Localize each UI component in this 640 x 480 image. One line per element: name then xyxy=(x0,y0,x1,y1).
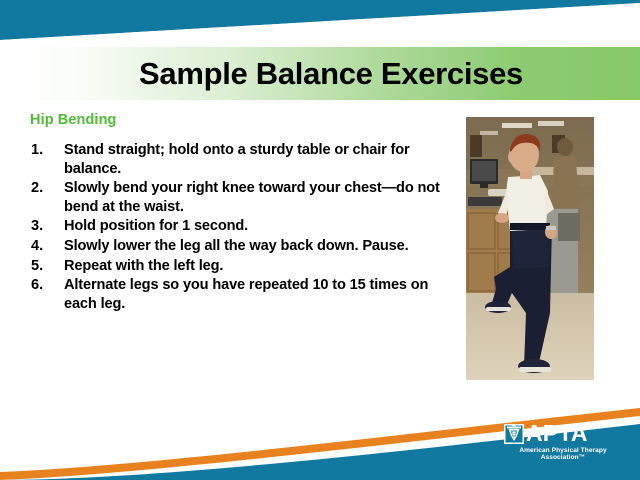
section-subtitle: Hip Bending xyxy=(30,112,116,128)
slide: Sample Balance Exercises Hip Bending 1. … xyxy=(0,0,640,480)
list-item-text: Stand straight; hold onto a sturdy table… xyxy=(64,141,448,178)
list-item-number: 5. xyxy=(28,257,64,276)
list-item-number: 2. xyxy=(28,179,64,198)
list-item-number: 3. xyxy=(28,217,64,236)
exercise-photo-image xyxy=(466,117,594,380)
apta-logo-row: APTA xyxy=(503,421,623,446)
list-item: 6. Alternate legs so you have repeated 1… xyxy=(28,276,448,313)
list-item: 1. Stand straight; hold onto a sturdy ta… xyxy=(28,141,448,178)
top-decoration xyxy=(0,0,640,46)
list-item: 3. Hold position for 1 second. xyxy=(28,217,448,236)
apta-logo: APTA American Physical Therapy Associati… xyxy=(503,421,623,461)
list-item: 2. Slowly bend your right knee toward yo… xyxy=(28,179,448,216)
list-item-number: 4. xyxy=(28,237,64,256)
list-item: 4. Slowly lower the leg all the way back… xyxy=(28,237,448,256)
list-item: 5. Repeat with the left leg. xyxy=(28,257,448,276)
title-band: Sample Balance Exercises xyxy=(22,47,640,100)
list-item-text: Slowly lower the leg all the way back do… xyxy=(64,237,448,256)
apta-column-emblem-icon xyxy=(503,422,525,445)
apta-tagline: American Physical Therapy Association™ xyxy=(503,447,623,461)
exercise-steps-list: 1. Stand straight; hold onto a sturdy ta… xyxy=(28,141,448,314)
page-title: Sample Balance Exercises xyxy=(22,47,640,100)
list-item-text: Repeat with the left leg. xyxy=(64,257,448,276)
apta-wordmark: APTA xyxy=(526,422,588,445)
list-item-text: Alternate legs so you have repeated 10 t… xyxy=(64,276,448,313)
list-item-number: 1. xyxy=(28,141,64,160)
list-item-text: Slowly bend your right knee toward your … xyxy=(64,179,448,216)
list-item-text: Hold position for 1 second. xyxy=(64,217,448,236)
exercise-photo xyxy=(466,117,594,380)
list-item-number: 6. xyxy=(28,276,64,295)
